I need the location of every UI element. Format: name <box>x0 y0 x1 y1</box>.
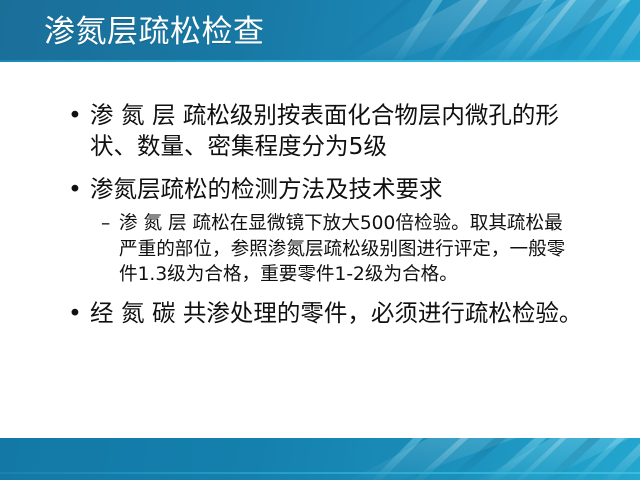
bullet-item-1: • 渗 氮 层 疏松级别按表面化合物层内微孔的形状、数量、密集程度分为5级 <box>0 100 640 162</box>
bullet-text: 渗 氮 层 疏松级别按表面化合物层内微孔的形状、数量、密集程度分为5级 <box>90 101 559 160</box>
footer-edge-line <box>0 472 640 474</box>
slide-title-banner: 渗氮层疏松检查 <box>0 0 640 62</box>
bullet-item-2: • 渗氮层疏松的检测方法及技术要求 <box>0 174 640 205</box>
slide-body-content: • 渗 氮 层 疏松级别按表面化合物层内微孔的形状、数量、密集程度分为5级 • … <box>0 62 640 438</box>
bullet-marker-dot: • <box>68 174 82 205</box>
sub-bullet-item-1: – 渗 氮 层 疏松在显微镜下放大500倍检验。取其疏松最严重的部位，参照渗氮层… <box>0 211 640 288</box>
bullet-marker-dot: • <box>68 298 82 329</box>
bullet-text: 渗氮层疏松的检测方法及技术要求 <box>90 175 443 203</box>
bullet-text: 经 氮 碳 共渗处理的零件，必须进行疏松检验。 <box>90 299 582 327</box>
slide-footer-banner <box>0 438 640 480</box>
sub-bullet-text: 渗 氮 层 疏松在显微镜下放大500倍检验。取其疏松最严重的部位，参照渗氮层疏松… <box>119 213 565 285</box>
bullet-marker-dash: – <box>101 211 110 237</box>
presentation-slide: 渗氮层疏松检查 • 渗 氮 层 疏松级别按表面化合物层内微孔的形状、数量、密集程… <box>0 0 640 480</box>
page-title: 渗氮层疏松检查 <box>44 13 265 51</box>
bullet-item-3: • 经 氮 碳 共渗处理的零件，必须进行疏松检验。 <box>0 298 640 329</box>
bullet-marker-dot: • <box>68 100 82 131</box>
